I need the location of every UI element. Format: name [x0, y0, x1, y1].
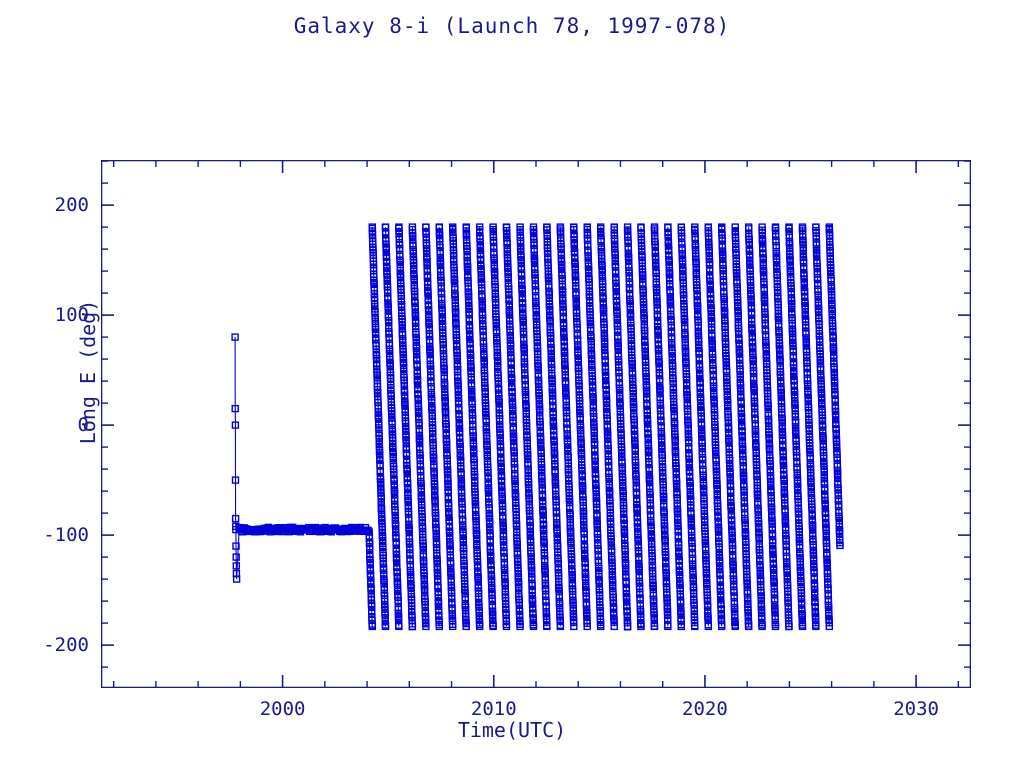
y-tick-label: 100 [9, 304, 89, 326]
y-tick-label: 200 [9, 194, 89, 216]
y-tick-label: -100 [9, 524, 89, 546]
x-tick-label: 2010 [449, 698, 539, 720]
longitude-series-plot [101, 160, 971, 688]
plot-frame [101, 160, 971, 688]
y-axis-label: Long E (deg) [76, 272, 100, 472]
plot-page: Galaxy 8-i (Launch 78, 1997-078) Long E … [0, 0, 1024, 768]
data-series [232, 224, 843, 630]
series-polyline [235, 337, 372, 626]
series-markers [232, 224, 843, 630]
y-tick-label: 0 [9, 414, 89, 436]
x-tick-label: 2030 [871, 698, 961, 720]
x-tick-label: 2000 [238, 698, 328, 720]
page-title: Galaxy 8-i (Launch 78, 1997-078) [0, 14, 1024, 38]
x-axis-label: Time(UTC) [0, 718, 1024, 742]
y-tick-label: -200 [9, 634, 89, 656]
x-tick-label: 2020 [660, 698, 750, 720]
